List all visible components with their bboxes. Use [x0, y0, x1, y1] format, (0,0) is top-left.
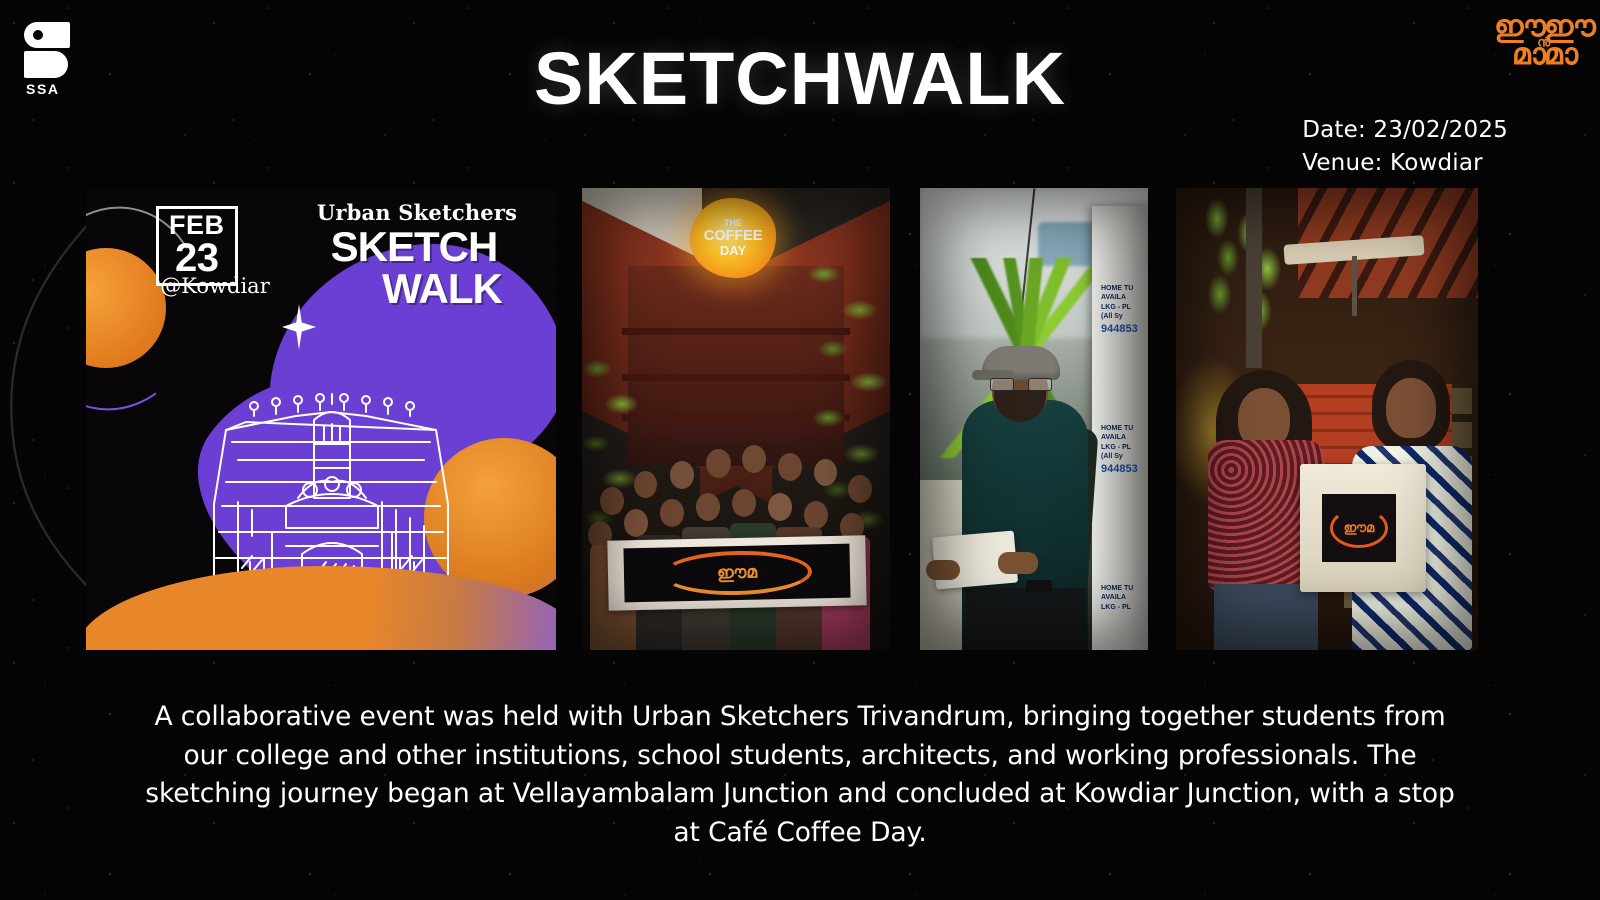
- pole-ad-number: 944853: [1101, 462, 1148, 477]
- tote-bag-print: ഈമ: [1322, 494, 1396, 562]
- slide-canvas: SSA ഈ ഈ മാ മാ ൻ SKETCHWALK Date: 23/02/2…: [0, 0, 1600, 900]
- poster-organiser: Urban Sketchers: [312, 200, 522, 225]
- event-venue: Venue: Kowdiar: [1302, 147, 1508, 180]
- wristwatch: [1026, 580, 1052, 592]
- ad-covered-pole: HOME TU AVAILA LKG - PL (All Sy 944853 H…: [1092, 206, 1148, 650]
- umbrella-stem: [1352, 256, 1357, 316]
- sketcher-trousers: [966, 588, 1086, 650]
- tote-bag: ഈമ: [1300, 464, 1426, 592]
- pole-ad-line2: AVAILA: [1101, 293, 1148, 302]
- pole-ad-line3: LKG - PL: [1101, 603, 1148, 612]
- ssa-logo-dot: [33, 30, 43, 40]
- right-hand: [998, 552, 1038, 574]
- event-banner-artwork: ഈമ: [623, 544, 850, 603]
- gallery-item-ccd-group-photo[interactable]: THE COFFEE DAY: [582, 188, 890, 650]
- gallery-item-tote-photo[interactable]: ഈമ: [1176, 188, 1478, 650]
- poster-handle: @Kowdiar: [140, 274, 290, 298]
- pole-ad-line2: AVAILA: [1101, 593, 1148, 602]
- pole-ad-line3: LKG - PL: [1101, 443, 1148, 452]
- pole-ad-line1: HOME TU: [1101, 284, 1148, 293]
- gallery-item-poster[interactable]: FEB 23 @Kowdiar Urban Sketchers SKETCH W…: [86, 188, 556, 650]
- pole-ad-2: HOME TU AVAILA LKG - PL (All Sy 944853: [1098, 424, 1148, 477]
- poster-date-day: 23: [169, 239, 225, 277]
- sign-line-3: DAY: [720, 244, 746, 257]
- pole-ad-number: 944853: [1101, 322, 1148, 337]
- eyeglasses: [990, 378, 1052, 391]
- jeans: [1214, 584, 1318, 650]
- coffee-day-sign: THE COFFEE DAY: [690, 198, 776, 278]
- event-date: Date: 23/02/2025: [1302, 114, 1508, 147]
- event-meta: Date: 23/02/2025 Venue: Kowdiar: [1302, 114, 1508, 181]
- banner-logo-text: ഈമ: [717, 563, 757, 584]
- pole-ad-line1: HOME TU: [1101, 584, 1148, 593]
- flat-cap: [982, 346, 1060, 380]
- pole-ad-line2: AVAILA: [1101, 433, 1148, 442]
- pole-ad-line3: LKG - PL: [1101, 303, 1148, 312]
- pole-ad-line1: HOME TU: [1101, 424, 1148, 433]
- image-gallery: FEB 23 @Kowdiar Urban Sketchers SKETCH W…: [0, 188, 1600, 650]
- event-description: A collaborative event was held with Urba…: [130, 698, 1470, 853]
- pole-ad-1: HOME TU AVAILA LKG - PL (All Sy 944853: [1098, 284, 1148, 337]
- event-banner: ഈമ: [607, 535, 866, 610]
- poster-headline-line1: SKETCH: [308, 226, 520, 268]
- pole-ad-line4: (All Sy: [1101, 452, 1148, 461]
- page-title: SKETCHWALK: [0, 42, 1600, 116]
- poster-headline-line2: WALK: [336, 268, 548, 310]
- face: [1386, 378, 1436, 438]
- gallery-item-sketcher-photo[interactable]: HOME TU AVAILA LKG - PL (All Sy 944853 H…: [920, 188, 1148, 650]
- pole-ad-line4: (All Sy: [1101, 312, 1148, 321]
- left-hand: [926, 560, 960, 580]
- event-poster-artwork: FEB 23 @Kowdiar Urban Sketchers SKETCH W…: [86, 188, 556, 650]
- tote-print-swirl: [1330, 508, 1388, 548]
- sign-line-2: COFFEE: [704, 228, 762, 243]
- pole-ad-3: HOME TU AVAILA LKG - PL: [1098, 584, 1148, 612]
